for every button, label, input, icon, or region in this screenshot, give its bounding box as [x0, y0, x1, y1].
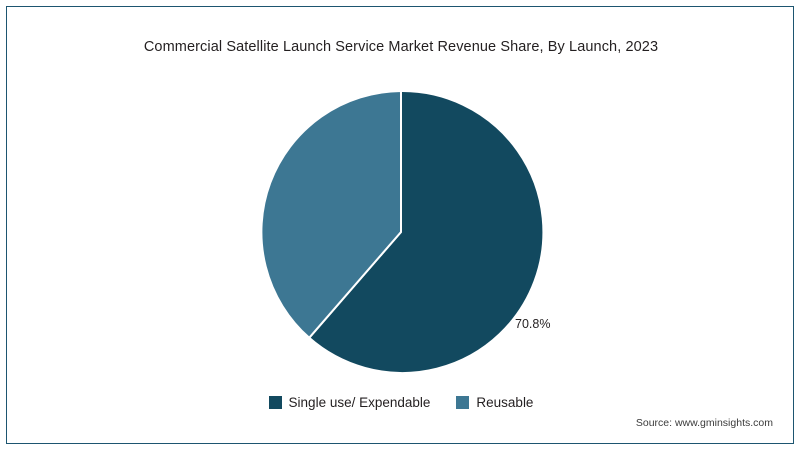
- pie-svg: [258, 89, 544, 375]
- chart-title: Commercial Satellite Launch Service Mark…: [7, 39, 795, 55]
- chart-legend: Single use/ Expendable Reusable: [7, 395, 795, 410]
- legend-label-reusable: Reusable: [476, 395, 533, 410]
- source-attribution: Source: www.gminsights.com: [636, 417, 773, 429]
- chart-plot-area: 70.8%: [7, 77, 795, 377]
- legend-swatch-reusable: [456, 396, 469, 409]
- legend-label-single-use: Single use/ Expendable: [289, 395, 431, 410]
- chart-frame: Commercial Satellite Launch Service Mark…: [6, 6, 794, 444]
- legend-item-single-use[interactable]: Single use/ Expendable: [269, 395, 431, 410]
- pie-value-label-single-use: 70.8%: [515, 317, 550, 331]
- legend-item-reusable[interactable]: Reusable: [456, 395, 533, 410]
- legend-swatch-single-use: [269, 396, 282, 409]
- pie-chart: [258, 89, 544, 375]
